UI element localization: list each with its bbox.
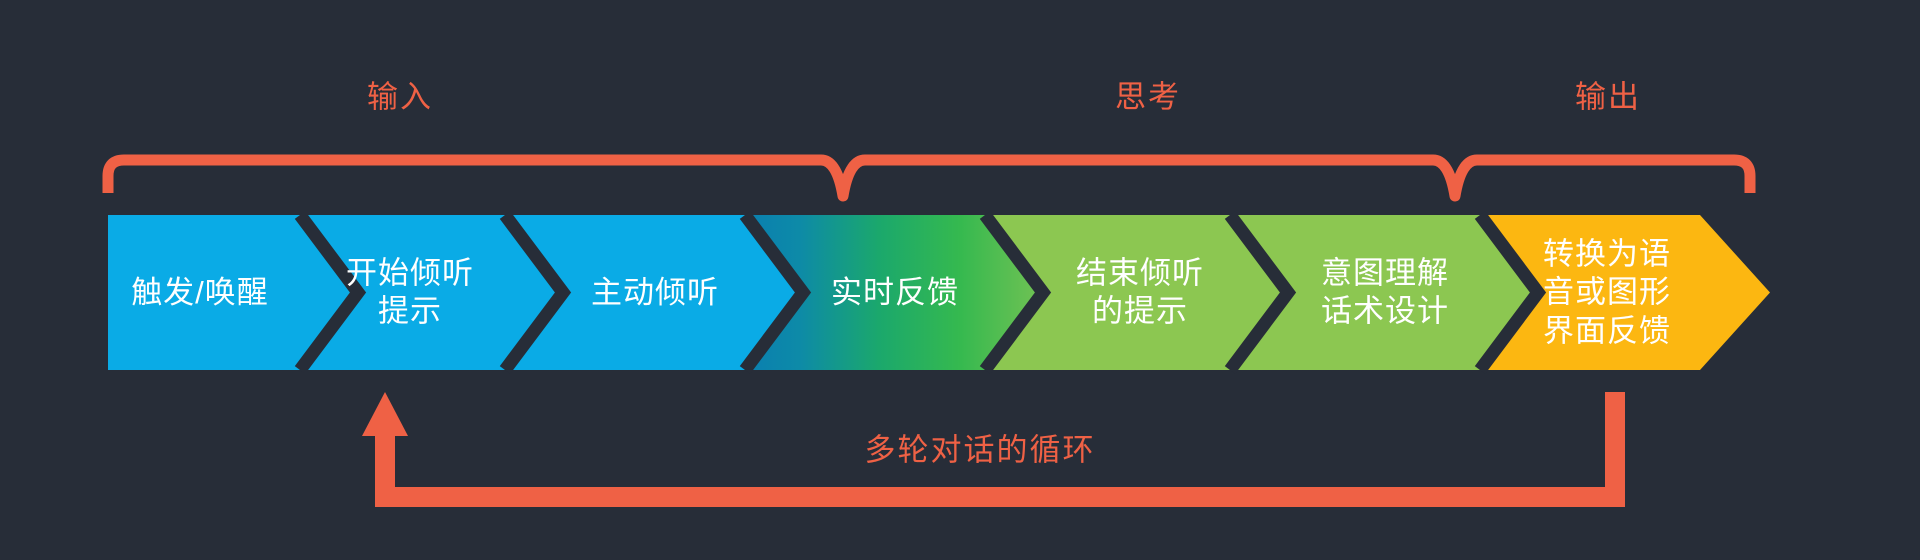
step-label-active-listening: 主动倾听 bbox=[591, 274, 719, 312]
phase-label-think: 思考 bbox=[1115, 82, 1181, 113]
step-label-start-listening: 开始倾听 提示 bbox=[346, 255, 474, 332]
diagram-text-layer: 输入 思考 输出 触发/唤醒 开始倾听 提示 主动倾听 实时反馈 结束倾听 的提… bbox=[0, 0, 1920, 560]
phase-label-input: 输入 bbox=[367, 82, 433, 113]
step-label-intent-script: 意图理解 话术设计 bbox=[1321, 255, 1449, 332]
step-label-realtime-feedback: 实时反馈 bbox=[831, 274, 959, 312]
diagram-canvas: 输入 思考 输出 触发/唤醒 开始倾听 提示 主动倾听 实时反馈 结束倾听 的提… bbox=[0, 0, 1920, 560]
feedback-loop-label: 多轮对话的循环 bbox=[865, 435, 1096, 466]
step-label-trigger-wake: 触发/唤醒 bbox=[131, 274, 269, 312]
phase-label-output: 输出 bbox=[1575, 82, 1641, 113]
step-label-render-output: 转换为语 音或图形 界面反馈 bbox=[1543, 235, 1671, 350]
step-label-end-listening: 结束倾听 的提示 bbox=[1076, 255, 1204, 332]
